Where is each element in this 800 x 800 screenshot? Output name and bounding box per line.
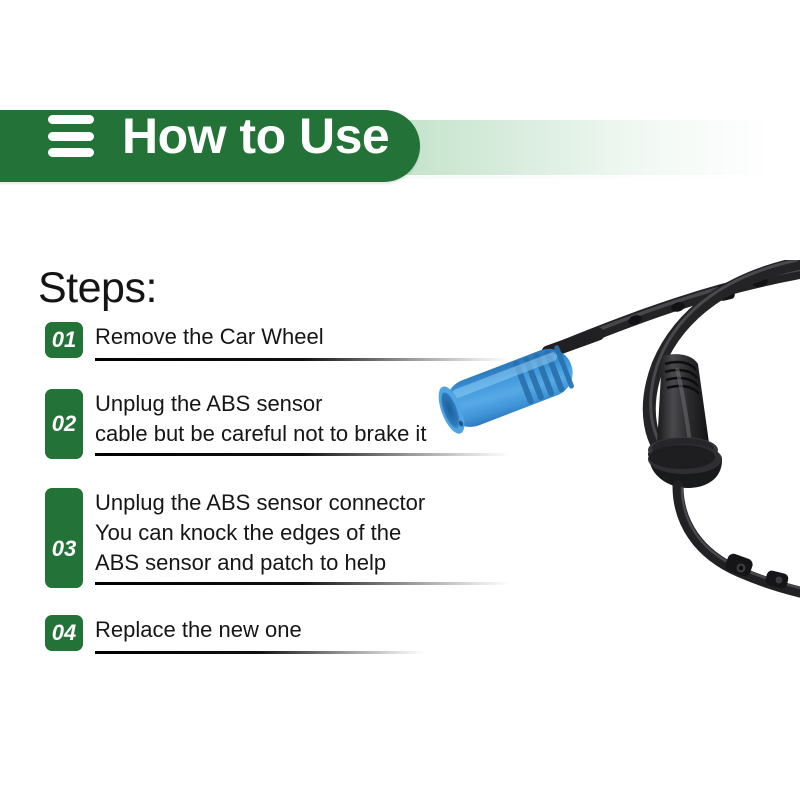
hamburger-icon <box>48 115 94 157</box>
step-text: Replace the new one <box>89 615 500 645</box>
steps-list: 01 Remove the Car Wheel 02 Unplug the AB… <box>0 322 500 672</box>
page-title: How to Use <box>122 111 389 161</box>
step-divider <box>95 651 425 654</box>
step-number-badge: 02 <box>45 389 83 459</box>
hamburger-bar-3 <box>48 148 94 157</box>
page-header: How to Use <box>0 100 800 188</box>
step-number-badge: 03 <box>45 488 83 588</box>
hamburger-bar-1 <box>48 115 94 124</box>
step-item: 04 Replace the new one <box>45 615 500 654</box>
blue-connector <box>433 341 580 437</box>
hamburger-bar-2 <box>48 132 94 141</box>
steps-heading: Steps: <box>38 265 157 312</box>
step-text-line: Replace the new one <box>95 615 500 645</box>
cable-flange <box>648 444 722 488</box>
abs-sensor-illustration <box>430 260 800 610</box>
step-number-badge: 04 <box>45 615 83 651</box>
how-to-use-page: How to Use Steps: 01 Remove the Car Whee… <box>0 0 800 800</box>
step-number-badge: 01 <box>45 322 83 358</box>
product-photo-abs-sensor <box>430 260 800 610</box>
header-content: How to Use <box>0 100 450 172</box>
